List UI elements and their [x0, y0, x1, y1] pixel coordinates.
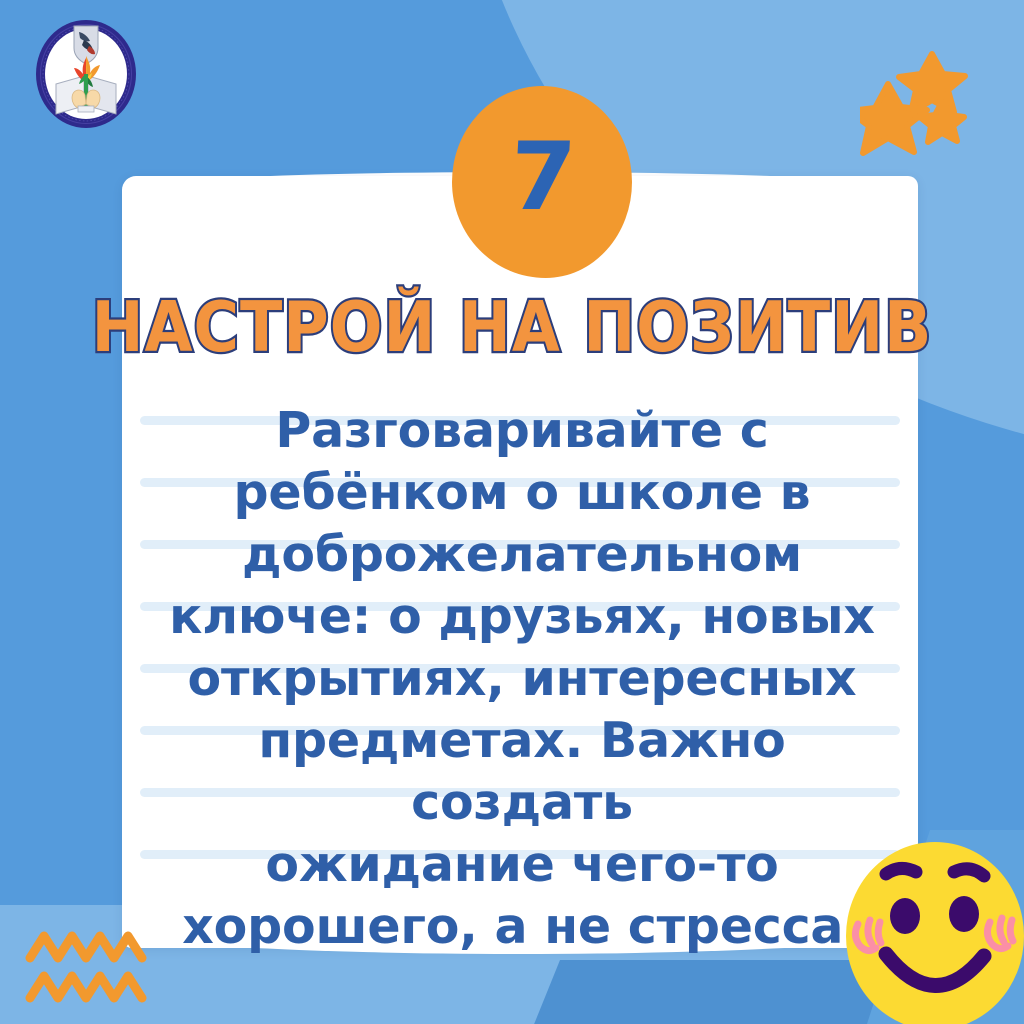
- emblem-icon: [34, 18, 138, 130]
- body-line: ключе: о друзьях, новых: [150, 586, 894, 648]
- smiley-face-icon: [842, 838, 1024, 1024]
- organization-logo: [34, 18, 138, 130]
- body-line: открытиях, интересных: [150, 648, 894, 710]
- zigzag-decoration: [24, 928, 174, 1014]
- body-line: доброжелательном: [150, 524, 894, 586]
- zigzag-icon: [24, 928, 174, 1014]
- body-line: Разговаривайте с: [150, 400, 894, 462]
- body-line: предметах. Важно создать: [150, 710, 894, 834]
- stars-icon: [860, 36, 1024, 166]
- body-text: Разговаривайте с ребёнком о школе в добр…: [150, 400, 894, 958]
- body-line: ребёнком о школе в: [150, 462, 894, 524]
- body-line: ожидание чего-то: [150, 834, 894, 896]
- stars-decoration: [860, 36, 1024, 166]
- step-number-text: 7: [508, 131, 576, 225]
- smiley-decoration: [842, 838, 1024, 1024]
- step-number-badge: 7: [452, 86, 632, 278]
- poster-canvas: 7 НАСТРОЙ НА ПОЗИТИВ Разговаривайте с ре…: [0, 0, 1024, 1024]
- body-line: хорошего, а не стресса.: [150, 896, 894, 958]
- page-title: НАСТРОЙ НА ПОЗИТИВ: [0, 286, 1024, 368]
